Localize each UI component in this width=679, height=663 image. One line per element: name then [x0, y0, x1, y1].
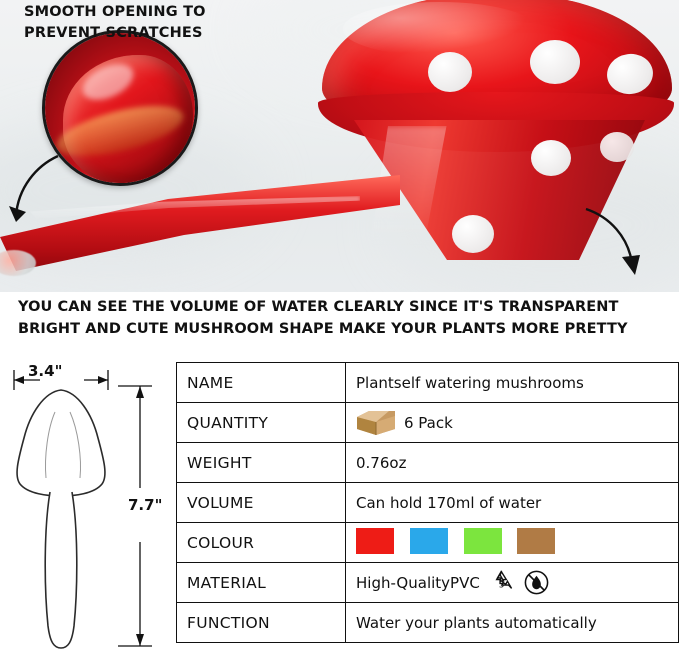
caption-line-2: PREVENT SCRATCHES [24, 23, 264, 44]
cap-dot [530, 40, 580, 84]
smooth-opening-caption: SMOOTH OPENING TO PREVENT SCRATCHES [24, 2, 264, 44]
spec-key-material: MATERIAL [177, 563, 346, 603]
colour-swatch-blue [410, 528, 448, 554]
table-row: MATERIAL High-QualityPVC 3 [177, 563, 679, 603]
table-row: VOLUME Can hold 170ml of water [177, 483, 679, 523]
feature-line-2: BRIGHT AND CUTE MUSHROOM SHAPE MAKE YOUR… [18, 318, 673, 340]
cap-dot [600, 132, 634, 162]
spec-key-volume: VOLUME [177, 483, 346, 523]
width-dimension-label: 3.4" [28, 362, 62, 380]
height-dimension-label: 7.7" [128, 496, 162, 514]
recycle-icon: 3 [488, 569, 515, 596]
quantity-text: 6 Pack [404, 414, 453, 432]
spec-key-name: NAME [177, 363, 346, 403]
table-row: COLOUR [177, 523, 679, 563]
cap-dot [531, 140, 571, 176]
cap-dot [452, 215, 494, 253]
feature-line-1: YOU CAN SEE THE VOLUME OF WATER CLEARLY … [18, 296, 673, 318]
spec-value-name: Plantself watering mushrooms [346, 363, 679, 403]
spec-section: 3.4" 7.7" NAME Plantself watering mushro… [0, 356, 679, 663]
spec-key-quantity: QUANTITY [177, 403, 346, 443]
no-flame-icon [523, 569, 550, 596]
table-row: WEIGHT 0.76oz [177, 443, 679, 483]
product-photo: SMOOTH OPENING TO PREVENT SCRATCHES [0, 0, 679, 292]
product-infographic: SMOOTH OPENING TO PREVENT SCRATCHES YOU … [0, 0, 679, 663]
colour-swatch-red [356, 528, 394, 554]
spec-key-colour: COLOUR [177, 523, 346, 563]
table-row: QUANTITY 6 Pack [177, 403, 679, 443]
spec-value-weight: 0.76oz [346, 443, 679, 483]
recycle-code-label: 3 [499, 580, 505, 590]
spec-value-volume: Can hold 170ml of water [346, 483, 679, 523]
dimension-drawing: 3.4" 7.7" [0, 356, 176, 663]
spec-key-weight: WEIGHT [177, 443, 346, 483]
caption-line-1: SMOOTH OPENING TO [24, 2, 264, 23]
feature-text: YOU CAN SEE THE VOLUME OF WATER CLEARLY … [18, 296, 673, 340]
stem-tip [0, 250, 36, 276]
carton-box-icon [356, 409, 396, 436]
table-row: FUNCTION Water your plants automatically [177, 603, 679, 643]
right-curved-arrow-icon [580, 205, 650, 280]
spec-value-colour [346, 523, 679, 563]
cap-dot [428, 52, 472, 92]
left-curved-arrow-icon [6, 150, 66, 230]
spec-value-quantity: 6 Pack [346, 403, 679, 443]
table-row: NAME Plantself watering mushrooms [177, 363, 679, 403]
colour-swatch-brown [517, 528, 555, 554]
spec-key-function: FUNCTION [177, 603, 346, 643]
spec-table: NAME Plantself watering mushrooms QUANTI… [176, 362, 679, 643]
spec-value-function: Water your plants automatically [346, 603, 679, 643]
colour-swatch-green [464, 528, 502, 554]
spec-value-material: High-QualityPVC 3 [346, 563, 679, 603]
material-text: High-QualityPVC [356, 574, 480, 592]
